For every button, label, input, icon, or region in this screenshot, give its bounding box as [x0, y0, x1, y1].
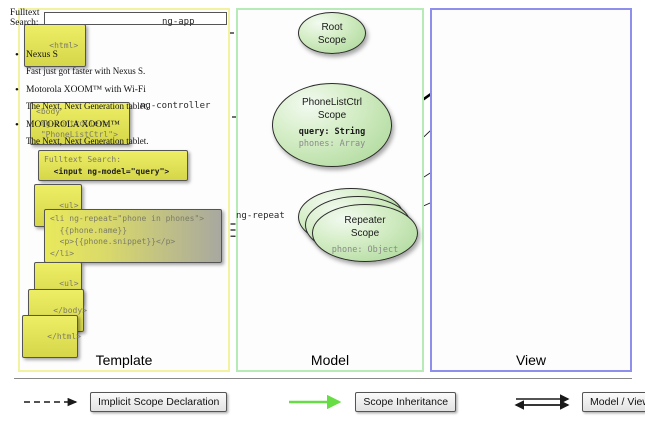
code-box-li-ng-repeat: <li ng-repeat="phone in phones"> {{phone… — [44, 209, 222, 263]
legend-label-implicit-scope: Implicit Scope Declaration — [90, 392, 227, 412]
list-item: MOTOROLA XOOM™ The Next, Next Generation… — [10, 120, 192, 146]
legend-item-data-binding: Model / View Data-binding — [514, 392, 645, 412]
scope-phonelistctrl-props: query: Stringphones: Array — [273, 126, 391, 151]
code-box-html-close: </html> — [22, 315, 78, 358]
edge-label-ng-repeat: ng-repeat — [236, 211, 285, 221]
view-search-label: Fulltext Search: — [10, 8, 40, 28]
scope-repeater: RepeaterScope phone: Object — [312, 204, 418, 262]
phone-name: Motorola XOOM™ with Wi-Fi — [10, 85, 192, 95]
edge-label-ng-app: ng-app — [162, 17, 195, 27]
panel-model-title: Model — [238, 352, 422, 368]
search-input[interactable] — [44, 12, 227, 25]
panel-view: View — [430, 8, 632, 372]
scope-root-label: RootScope — [299, 22, 365, 47]
legend-divider — [14, 378, 632, 379]
legend-item-implicit-scope: Implicit Scope Declaration — [22, 392, 227, 412]
view-content: Fulltext Search: Nexus S Fast just got f… — [10, 8, 192, 155]
legend: Implicit Scope Declaration Scope Inherit… — [14, 388, 632, 416]
legend-label-scope-inheritance: Scope Inheritance — [355, 392, 456, 412]
scope-repeater-props: phone: Object — [313, 244, 417, 256]
scope-phonelistctrl: PhoneListCtrlScope query: Stringphones: … — [272, 83, 392, 167]
phone-list: Nexus S Fast just got faster with Nexus … — [10, 50, 192, 146]
list-item: Nexus S Fast just got faster with Nexus … — [10, 50, 192, 76]
scope-phonelistctrl-label: PhoneListCtrlScope — [273, 97, 391, 122]
diagram-canvas: Template <html> <body ng-controller= "Ph… — [0, 0, 645, 425]
phone-name: MOTOROLA XOOM™ — [10, 120, 192, 130]
scope-repeater-label: RepeaterScope — [313, 215, 417, 240]
panel-view-title: View — [432, 352, 630, 368]
phone-snippet: Fast just got faster with Nexus S. — [10, 66, 192, 76]
legend-item-scope-inheritance: Scope Inheritance — [287, 392, 456, 412]
phone-snippet: The Next, Next Generation tablet. — [10, 136, 192, 146]
edge-label-ng-controller: ng-controller — [140, 101, 210, 111]
dashed-arrow-icon — [22, 392, 84, 412]
green-arrow-icon — [287, 392, 349, 412]
phone-name: Nexus S — [10, 50, 192, 60]
legend-label-data-binding: Model / View Data-binding — [582, 392, 645, 412]
scope-root: RootScope — [298, 12, 366, 54]
bidirectional-arrow-icon — [514, 392, 576, 412]
